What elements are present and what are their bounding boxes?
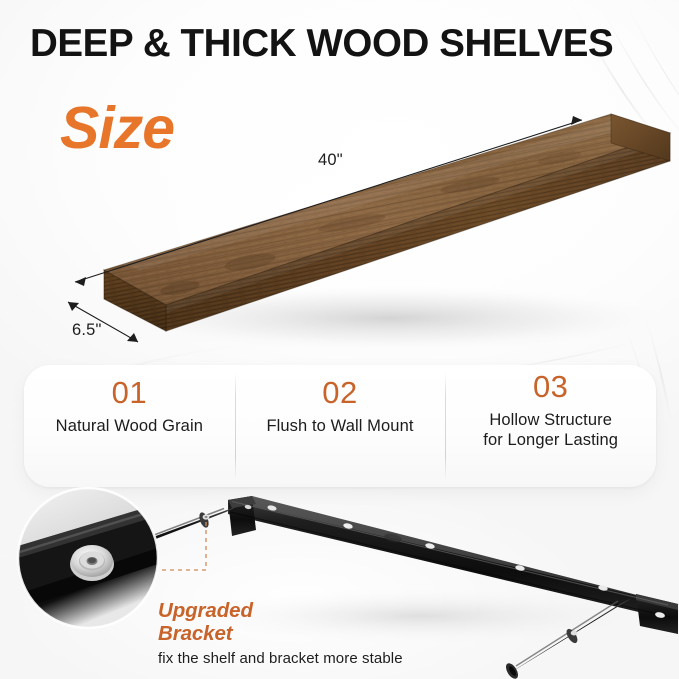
- feature-column-2: 02 Flush to Wall Mount: [235, 365, 446, 487]
- length-dimension-label: 40": [318, 152, 343, 169]
- feature-number-01: 01: [112, 377, 147, 410]
- feature-label-01: Natural Wood Grain: [56, 416, 203, 436]
- feature-label-03: Hollow Structure for Longer Lasting: [483, 410, 618, 451]
- page-title: DEEP & THICK WOOD SHELVES: [30, 25, 660, 64]
- feature-number-02: 02: [322, 377, 357, 410]
- feature-label-02: Flush to Wall Mount: [266, 416, 413, 436]
- feature-column-1: 01 Natural Wood Grain: [24, 365, 235, 487]
- feature-number-03: 03: [533, 371, 568, 404]
- upgraded-bracket-title: Upgraded Bracket: [158, 600, 253, 646]
- feature-highlights-card: 01 Natural Wood Grain 02 Flush to Wall M…: [24, 365, 656, 487]
- depth-dimension-label: 6.5": [72, 322, 102, 339]
- shelf-illustration: [0, 86, 679, 354]
- upgraded-bracket-subtitle: fix the shelf and bracket more stable: [158, 650, 403, 667]
- feature-column-3: 03 Hollow Structure for Longer Lasting: [445, 365, 656, 487]
- bracket-closeup-inset: [18, 488, 158, 628]
- infographic-page: DEEP & THICK WOOD SHELVES Size: [0, 0, 679, 679]
